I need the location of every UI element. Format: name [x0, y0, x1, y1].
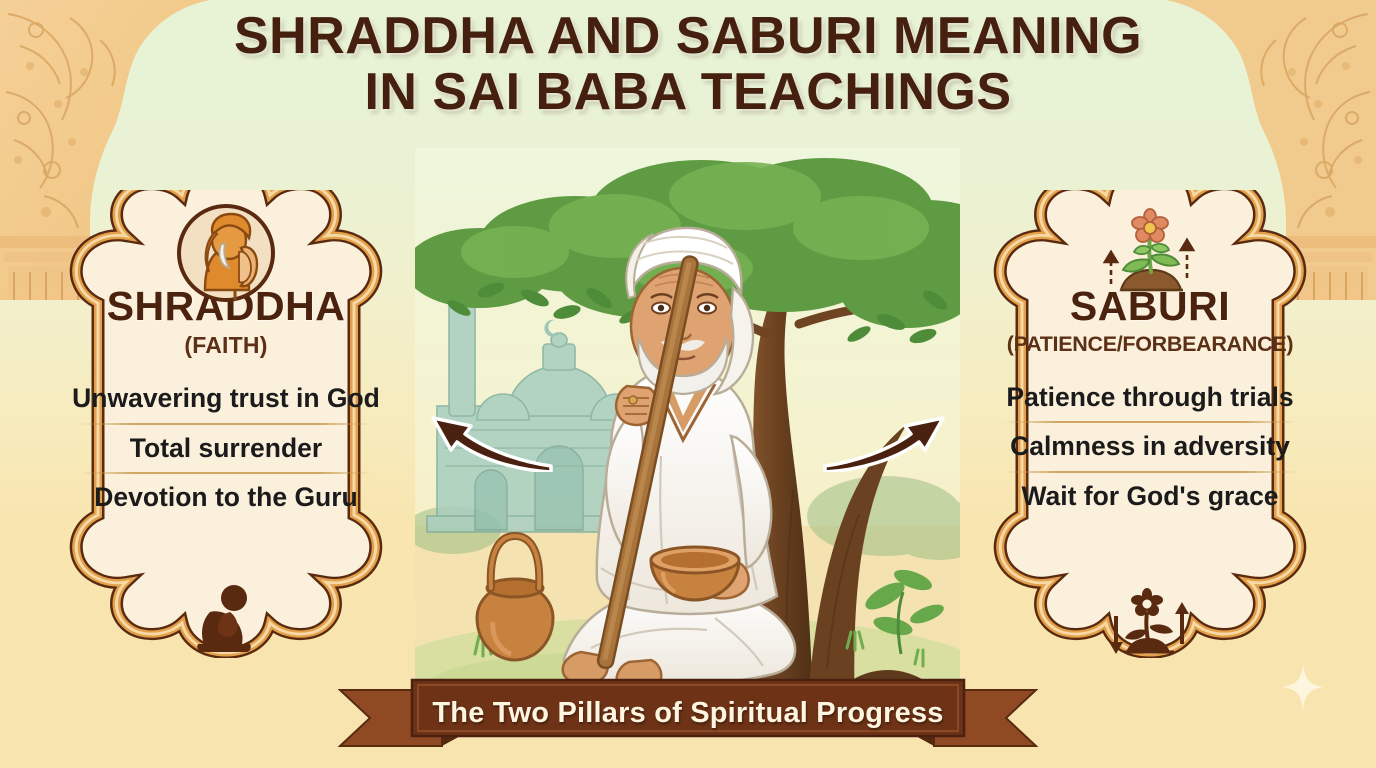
list-item: Patience through trials — [980, 374, 1320, 422]
curved-arrow-left-icon — [425, 400, 555, 472]
shraddha-card-body: SHRADDHA (FAITH) Unwavering trust in God… — [22, 286, 430, 618]
divider — [1004, 471, 1296, 473]
curved-arrow-right-icon — [821, 400, 951, 472]
shraddha-subtitle: (FAITH) — [184, 334, 267, 357]
list-item: Devotion to the Guru — [56, 474, 396, 522]
kneeling-person-praying-icon — [180, 582, 272, 660]
divider — [1004, 421, 1296, 423]
divider — [80, 472, 372, 474]
list-item: Total surrender — [56, 425, 396, 473]
page-title: SHRADDHA AND SABURI MEANING IN SAI BABA … — [0, 8, 1376, 120]
praying-saint-icon — [175, 202, 277, 304]
saburi-subtitle: (PATIENCE/FORBEARANCE) — [1007, 334, 1293, 356]
title-line-2: IN SAI BABA TEACHINGS — [0, 64, 1376, 120]
list-item: Unwavering trust in God — [56, 375, 396, 423]
list-item: Wait for God's grace — [980, 473, 1320, 521]
growing-flower-plant-icon — [1099, 202, 1201, 304]
sparkle-star-icon — [1282, 664, 1324, 710]
flower-growth-arrows-icon — [1104, 582, 1196, 660]
saburi-card-body: SABURI (PATIENCE/FORBEARANCE) Patience t… — [946, 286, 1354, 618]
divider — [80, 423, 372, 425]
title-line-1: SHRADDHA AND SABURI MEANING — [0, 8, 1376, 64]
saburi-card[interactable]: SABURI (PATIENCE/FORBEARANCE) Patience t… — [946, 190, 1354, 658]
shraddha-points: Unwavering trust in God Total surrender … — [56, 375, 396, 522]
list-item: Calmness in adversity — [980, 423, 1320, 471]
saburi-points: Patience through trials Calmness in adve… — [980, 374, 1320, 521]
shraddha-card[interactable]: SHRADDHA (FAITH) Unwavering trust in God… — [22, 190, 430, 658]
bottom-ribbon-banner: The Two Pillars of Spiritual Progress — [338, 676, 1038, 752]
infographic-canvas: SHRADDHA AND SABURI MEANING IN SAI BABA … — [0, 0, 1376, 768]
